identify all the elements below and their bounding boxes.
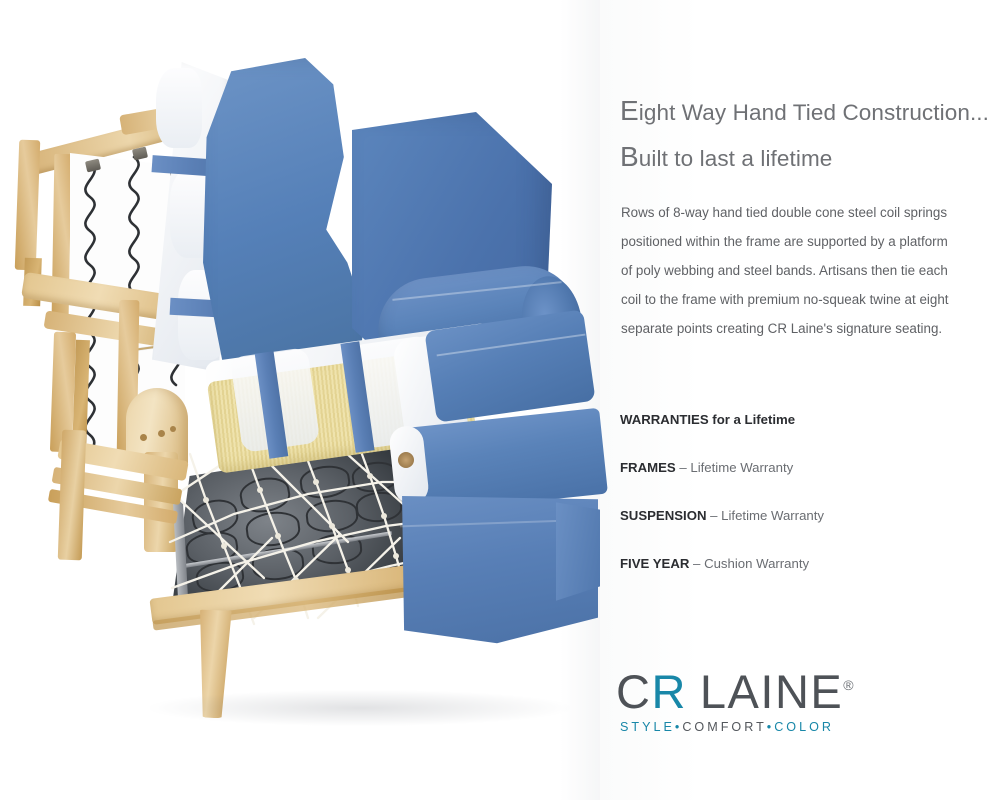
warranty-value: Lifetime Warranty <box>721 508 824 523</box>
tagline-color: COLOR <box>774 720 834 734</box>
chair-cutaway-photo <box>0 0 620 790</box>
lower-band-knot <box>398 452 414 468</box>
registered-trademark-icon: ® <box>843 677 853 693</box>
warranty-term: FRAMES <box>620 460 676 475</box>
warranties-heading: WARRANTIES for a Lifetime <box>620 412 795 427</box>
logo-letter-c: C <box>616 665 651 718</box>
tagline-style: STYLE <box>620 720 675 734</box>
warranty-value: Cushion Warranty <box>704 556 809 571</box>
warranties-heading-text: WARRANTIES for a Lifetime <box>620 412 795 427</box>
warranty-value: Lifetime Warranty <box>690 460 793 475</box>
headline-2-dropcap: B <box>620 141 639 172</box>
arm-post-hole-2 <box>158 430 165 437</box>
back-cushion-muslin-bulge-1 <box>156 68 202 148</box>
headline-1-dropcap: E <box>620 95 639 126</box>
back-cushion-welt <box>212 62 362 382</box>
warranty-row-suspension: SUSPENSION – Lifetime Warranty <box>620 508 824 523</box>
body-paragraph: Rows of 8-way hand tied double cone stee… <box>621 198 961 343</box>
warranty-dash: – <box>706 508 721 523</box>
warranty-term: FIVE YEAR <box>620 556 689 571</box>
cr-laine-logo: CRLAINE® STYLE•COMFORT•COLOR <box>616 668 886 734</box>
frame-rear-leg <box>58 430 87 561</box>
floor-shadow <box>150 690 570 726</box>
poster-root: Eight Way Hand Tied Construction... Buil… <box>0 0 1000 800</box>
warranty-dash: – <box>689 556 704 571</box>
logo-wordmark: CRLAINE® <box>616 668 886 715</box>
logo-tagline: STYLE•COMFORT•COLOR <box>616 720 886 734</box>
headline-line-2: Built to last a lifetime <box>620 141 832 173</box>
logo-letter-r: R <box>651 665 686 718</box>
frame-back-left-stile <box>15 140 41 271</box>
headline-line-1: Eight Way Hand Tied Construction... <box>620 95 989 127</box>
warranty-row-five-year: FIVE YEAR – Cushion Warranty <box>620 556 809 571</box>
tagline-comfort: COMFORT <box>682 720 766 734</box>
headline-1-rest: ight Way Hand Tied Construction... <box>639 100 989 125</box>
warranty-row-frames: FRAMES – Lifetime Warranty <box>620 460 793 475</box>
headline-2-rest: uilt to last a lifetime <box>639 146 833 171</box>
arm-post-hole-3 <box>170 426 176 432</box>
warranty-dash: – <box>676 460 691 475</box>
text-column: Eight Way Hand Tied Construction... Buil… <box>620 0 1000 800</box>
logo-laine: LAINE <box>700 665 843 718</box>
arm-post-hole-1 <box>140 434 147 441</box>
warranty-term: SUSPENSION <box>620 508 706 523</box>
